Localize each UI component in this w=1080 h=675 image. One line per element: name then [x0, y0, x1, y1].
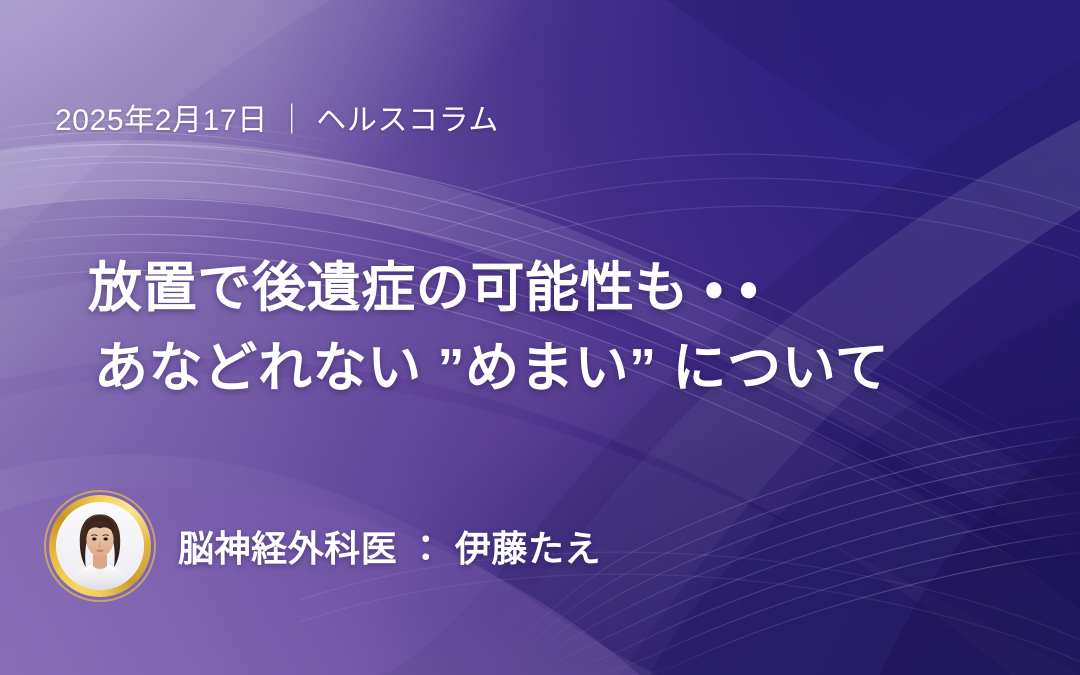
page-title-line-1: 放置で後遺症の可能性も ・ ・: [88, 248, 889, 328]
author-byline: 脳神経外科医 ： 伊藤たえ: [44, 486, 1044, 606]
date-and-category-label: 2025年2月17日 ｜ ヘルスコラム: [55, 106, 499, 136]
author-name-and-title: 脳神経外科医 ： 伊藤たえ: [178, 520, 601, 572]
avatar: [44, 490, 156, 602]
avatar-photo: [56, 502, 144, 590]
health-column-banner: 2025年2月17日 ｜ ヘルスコラム 放置で後遺症の可能性も ・ ・ あなどれ…: [0, 0, 1080, 675]
page-title: 放置で後遺症の可能性も ・ ・ あなどれない ”めまい” について: [88, 248, 889, 408]
banner-content: 2025年2月17日 ｜ ヘルスコラム 放置で後遺症の可能性も ・ ・ あなどれ…: [0, 0, 1080, 675]
page-title-line-2: あなどれない ”めまい” について: [88, 328, 889, 408]
